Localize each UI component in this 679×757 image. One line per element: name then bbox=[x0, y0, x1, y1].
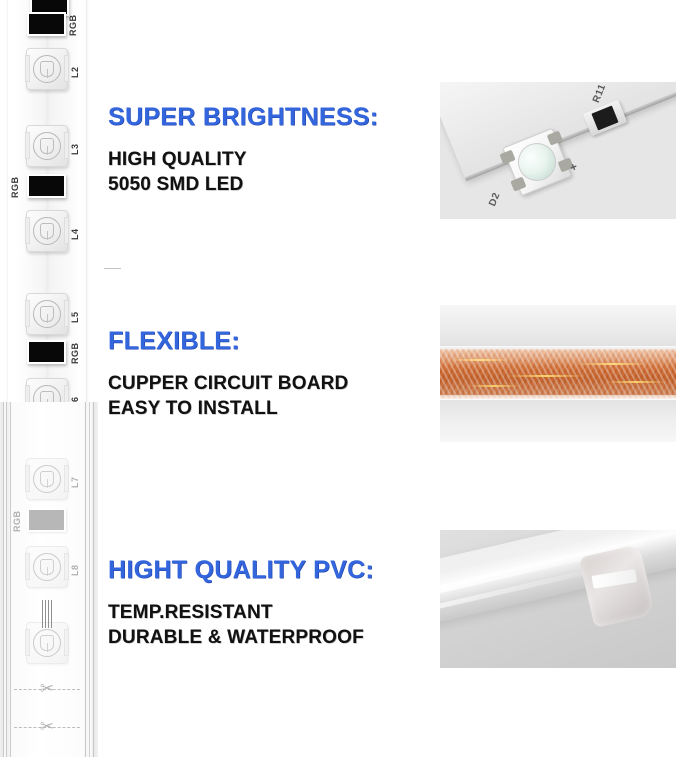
infographic-page: RGB L2 L3 RGB L4 L5 bbox=[0, 0, 679, 757]
lead-wires bbox=[40, 600, 52, 628]
feature-heading: SUPER BRIGHTNESS: bbox=[108, 103, 428, 133]
led-pad-right bbox=[64, 629, 69, 656]
silk-label-l4: L4 bbox=[70, 216, 80, 240]
led-pad-right bbox=[64, 465, 69, 492]
feature-block-super-brightness: SUPER BRIGHTNESS: HIGH QUALITY 5050 SMD … bbox=[108, 103, 428, 197]
rgb-pad bbox=[27, 340, 66, 364]
scissors-icon: ✂ bbox=[36, 678, 58, 700]
feature-line: DURABLE & WATERPROOF bbox=[108, 625, 428, 650]
feature-heading: FLEXIBLE: bbox=[108, 327, 428, 357]
feature-block-flexible: FLEXIBLE: CUPPER CIRCUIT BOARD EASY TO I… bbox=[108, 327, 428, 421]
resistor-body bbox=[591, 106, 618, 131]
led-chip-l8 bbox=[26, 546, 68, 588]
silk-label-d2: D2 bbox=[487, 191, 502, 208]
scissors-icon: ✂ bbox=[36, 716, 58, 738]
led-pad-left bbox=[25, 629, 30, 656]
feature-line: HIGH QUALITY bbox=[108, 147, 428, 172]
rgb-pad bbox=[27, 12, 66, 36]
sleeve-rib bbox=[89, 402, 90, 757]
led-die bbox=[33, 132, 61, 160]
rgb-pad bbox=[27, 174, 66, 198]
led-die bbox=[33, 553, 61, 581]
rgb-pad bbox=[27, 508, 66, 532]
silk-label-l5: L5 bbox=[70, 299, 80, 323]
led-chip-l2 bbox=[26, 48, 68, 90]
separator-rule bbox=[104, 268, 121, 269]
feature-line: EASY TO INSTALL bbox=[108, 396, 428, 421]
sleeve-seam-bottom bbox=[440, 395, 676, 400]
led-pad-left bbox=[25, 553, 30, 580]
silk-label-rgb: RGB bbox=[70, 336, 80, 364]
led-chip-end bbox=[26, 622, 68, 664]
sleeve-rib bbox=[10, 402, 11, 757]
smd-led-closeup-photo: R11 D2 + bbox=[440, 82, 676, 219]
solder-pad bbox=[510, 177, 526, 192]
sleeve-seam-top bbox=[440, 346, 676, 351]
sleeve-rib bbox=[6, 402, 7, 757]
sleeve-top bbox=[440, 305, 676, 351]
cap-highlight bbox=[592, 569, 637, 589]
led-pad-left bbox=[25, 55, 30, 82]
led-pad-left bbox=[25, 132, 30, 159]
led-pad-right bbox=[64, 553, 69, 580]
led-pad-left bbox=[25, 217, 30, 244]
silk-label-l2: L2 bbox=[70, 54, 80, 78]
led-pad-right bbox=[64, 55, 69, 82]
copper-circuit-board-photo bbox=[440, 305, 676, 442]
pvc-sleeve-photo bbox=[440, 530, 676, 668]
sleeve-rib bbox=[3, 402, 4, 757]
feature-line: 5050 SMD LED bbox=[108, 172, 428, 197]
silk-label-rgb: RGB bbox=[12, 504, 22, 532]
led-chip-l5 bbox=[26, 293, 68, 335]
led-pad-left bbox=[25, 465, 30, 492]
led-die bbox=[33, 465, 61, 493]
feature-line: CUPPER CIRCUIT BOARD bbox=[108, 371, 428, 396]
led-pad-right bbox=[64, 132, 69, 159]
cut-mark: ✂ bbox=[14, 678, 80, 700]
sleeve-rib bbox=[85, 402, 86, 757]
feature-block-pvc: HIGHT QUALITY PVC: TEMP.RESISTANT DURABL… bbox=[108, 556, 428, 650]
feature-line: TEMP.RESISTANT bbox=[108, 600, 428, 625]
led-pad-right bbox=[64, 217, 69, 244]
silk-label-l7: L7 bbox=[70, 464, 80, 488]
led-pad-right bbox=[64, 300, 69, 327]
led-die bbox=[33, 217, 61, 245]
silk-label-rgb: RGB bbox=[68, 10, 78, 36]
led-die bbox=[33, 300, 61, 328]
led-chip-l4 bbox=[26, 210, 68, 252]
led-die bbox=[33, 55, 61, 83]
led-chip-l3 bbox=[26, 125, 68, 167]
led-die bbox=[33, 629, 61, 657]
feature-heading: HIGHT QUALITY PVC: bbox=[108, 556, 428, 586]
silk-label-l8: L8 bbox=[70, 552, 80, 576]
sleeve-bottom bbox=[440, 396, 676, 442]
led-strip-product-photo: RGB L2 L3 RGB L4 L5 bbox=[0, 0, 100, 757]
silk-label-rgb: RGB bbox=[10, 170, 20, 198]
silk-label-l3: L3 bbox=[70, 131, 80, 155]
led-chip-l7 bbox=[26, 458, 68, 500]
cut-mark: ✂ bbox=[14, 716, 80, 738]
led-pad-left bbox=[25, 300, 30, 327]
sleeve-rib bbox=[93, 402, 94, 757]
core-gloss bbox=[440, 349, 676, 399]
